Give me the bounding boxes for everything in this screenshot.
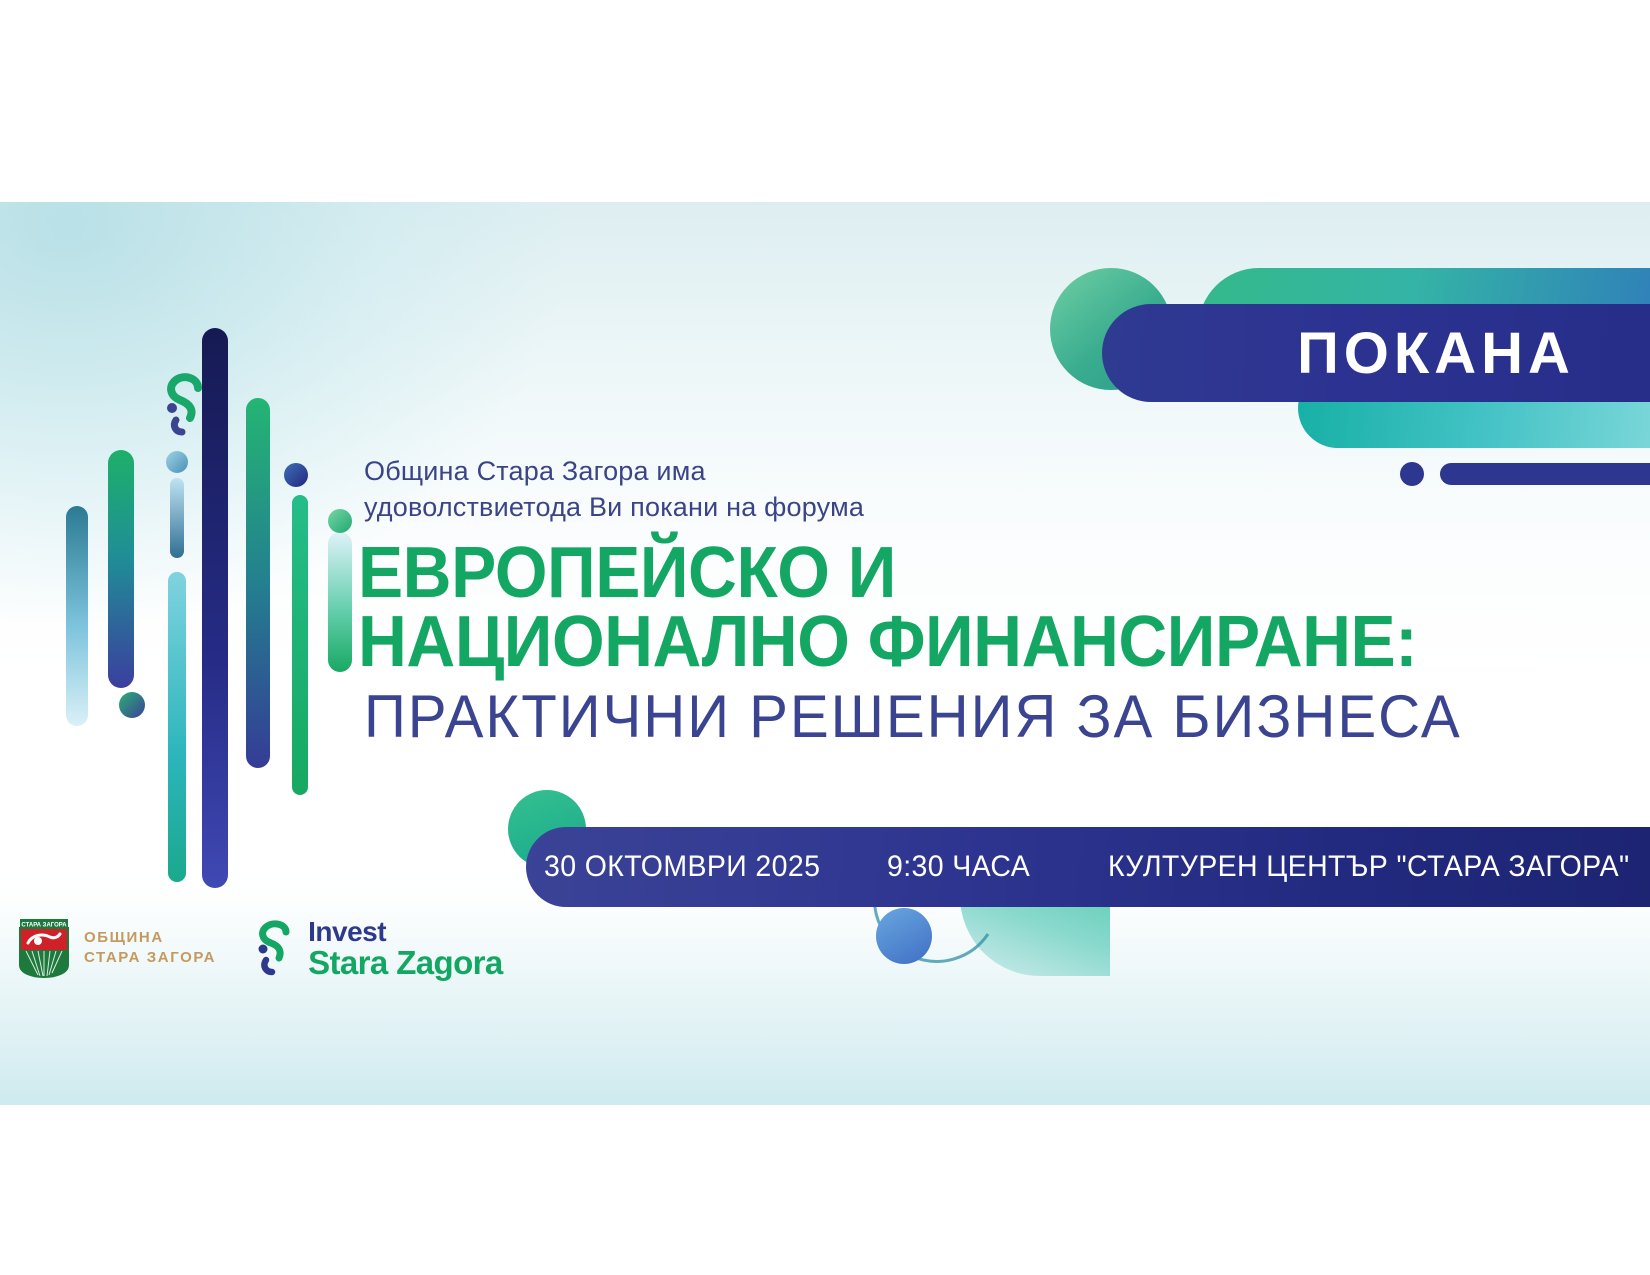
info-blue-dot xyxy=(876,908,932,964)
event-venue: КУЛТУРЕН ЦЕНТЪР "СТАРА ЗАГОРА" xyxy=(1108,850,1630,884)
invitation-badge-group: ПОКАНА xyxy=(1040,250,1650,480)
intro-line-1: Община Стара Загора има xyxy=(364,456,706,486)
poster-canvas: ПОКАНА Община Стара Загора има удоволств… xyxy=(0,0,1650,1275)
invest-stara-zagora-logo[interactable]: Invest Stara Zagora xyxy=(252,918,503,979)
event-time: 9:30 ЧАСА xyxy=(887,850,1030,884)
headline-block: Община Стара Загора има удоволствиетода … xyxy=(358,454,1588,750)
municipality-name: ОБЩИНА СТАРА ЗАГОРА xyxy=(84,928,216,969)
invest-wordmark: Invest Stara Zagora xyxy=(308,918,503,979)
logo-row: СТАРА ЗАГОРА xyxy=(18,917,503,979)
invest-line-2: Stara Zagora xyxy=(308,946,503,979)
invest-s-mark-icon xyxy=(252,919,298,977)
title-line-2: НАЦИОНАЛНО ФИНАНСИРАНЕ: xyxy=(358,608,1514,677)
title-line-3: ПРАКТИЧНИ РЕШЕНИЯ ЗА БИЗНЕСА xyxy=(364,685,1551,750)
badge-label: ПОКАНА xyxy=(1177,320,1575,387)
s-logo-mark-icon xyxy=(158,370,214,442)
stara-zagora-coat-of-arms-icon: СТАРА ЗАГОРА xyxy=(18,917,70,979)
invest-line-1: Invest xyxy=(308,918,503,946)
event-info-group: 30 ОКТОМВРИ 2025 9:30 ЧАСА КУЛТУРЕН ЦЕНТ… xyxy=(508,790,1650,940)
municipality-line-1: ОБЩИНА xyxy=(84,928,216,948)
municipality-logo[interactable]: СТАРА ЗАГОРА xyxy=(18,917,216,979)
decorative-bars-motif xyxy=(60,310,360,930)
intro-text: Община Стара Загора има удоволствиетода … xyxy=(364,454,1588,525)
event-info-bar: 30 ОКТОМВРИ 2025 9:30 ЧАСА КУЛТУРЕН ЦЕНТ… xyxy=(526,827,1650,907)
invitation-badge: ПОКАНА xyxy=(1102,304,1650,402)
municipality-line-2: СТАРА ЗАГОРА xyxy=(84,948,216,968)
title-line-1: ЕВРОПЕЙСКО И xyxy=(358,539,1514,608)
intro-line-2: удоволствиетода Ви покани на форума xyxy=(364,492,864,522)
invitation-poster: ПОКАНА Община Стара Загора има удоволств… xyxy=(0,202,1650,1105)
event-date: 30 ОКТОМВРИ 2025 xyxy=(544,850,820,884)
